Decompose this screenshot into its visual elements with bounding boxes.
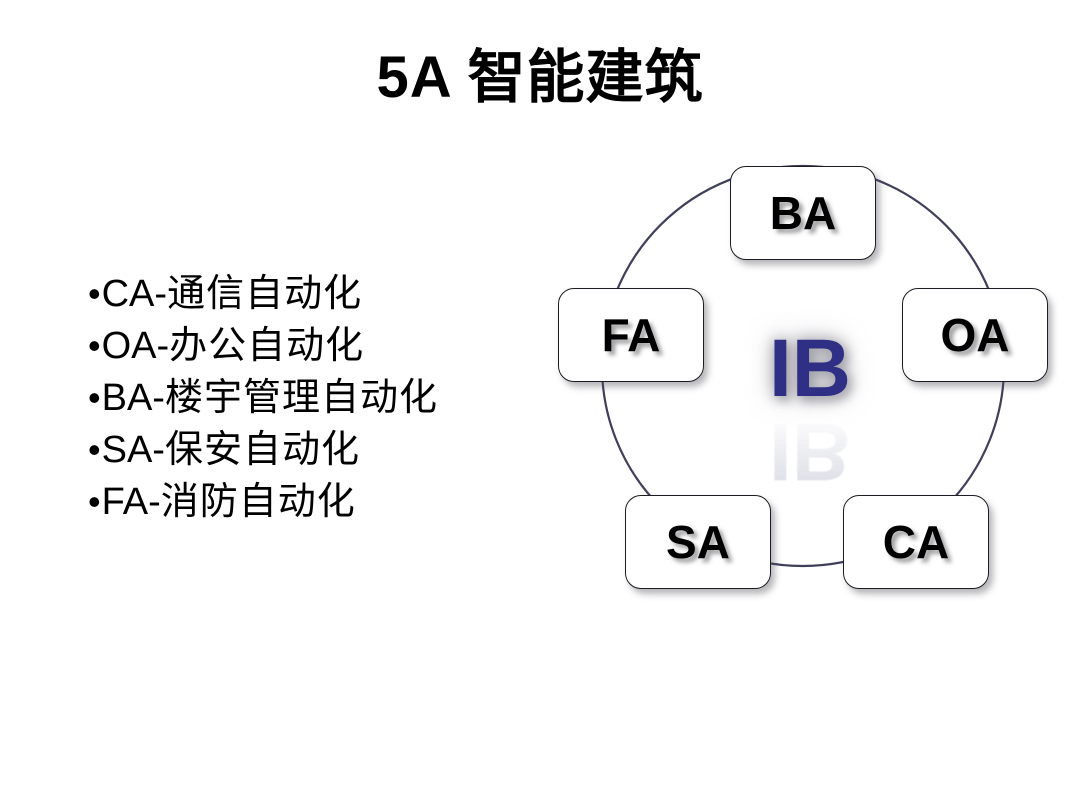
list-item-code: OA-: [102, 324, 170, 368]
center-wordmark-reflection: IB: [730, 407, 890, 495]
list-item-code: BA-: [102, 376, 165, 420]
node-oa[interactable]: OA: [902, 288, 1048, 382]
node-oa-label: OA: [941, 312, 1010, 358]
list-item-label: 办公自动化: [169, 324, 364, 368]
slide-canvas: 5A 智能建筑 • CA- 通信自动化 • OA- 办公自动化 • BA- 楼宇…: [0, 0, 1080, 810]
list-item-code: CA-: [102, 272, 167, 316]
page-title: 5A 智能建筑: [0, 44, 1080, 112]
list-item: • CA- 通信自动化: [88, 272, 518, 324]
node-ba[interactable]: BA: [730, 166, 876, 260]
node-ca-label: CA: [883, 519, 949, 565]
bullet-marker-icon: •: [88, 324, 101, 368]
list-item: • SA- 保安自动化: [88, 428, 518, 480]
center-wordmark-label: IB: [730, 325, 890, 413]
list-item: • BA- 楼宇管理自动化: [88, 376, 518, 428]
cycle-diagram: BA OA CA SA FA IB IB: [540, 150, 1080, 620]
list-item-label: 保安自动化: [165, 428, 360, 472]
bullet-marker-icon: •: [88, 480, 101, 524]
node-fa-label: FA: [602, 312, 661, 358]
node-fa[interactable]: FA: [558, 288, 704, 382]
list-item: • FA- 消防自动化: [88, 480, 518, 532]
list-item-label: 消防自动化: [161, 480, 356, 524]
list-item-code: FA-: [102, 480, 161, 524]
list-item: • OA- 办公自动化: [88, 324, 518, 376]
list-item-label: 通信自动化: [167, 272, 362, 316]
bullet-marker-icon: •: [88, 376, 101, 420]
bullet-list: • CA- 通信自动化 • OA- 办公自动化 • BA- 楼宇管理自动化 • …: [88, 272, 518, 532]
bullet-marker-icon: •: [88, 272, 101, 316]
node-sa-label: SA: [666, 519, 730, 565]
list-item-code: SA-: [102, 428, 165, 472]
center-wordmark: IB IB: [730, 325, 890, 525]
bullet-marker-icon: •: [88, 428, 101, 472]
list-item-label: 楼宇管理自动化: [165, 376, 438, 420]
node-ba-label: BA: [770, 190, 836, 236]
